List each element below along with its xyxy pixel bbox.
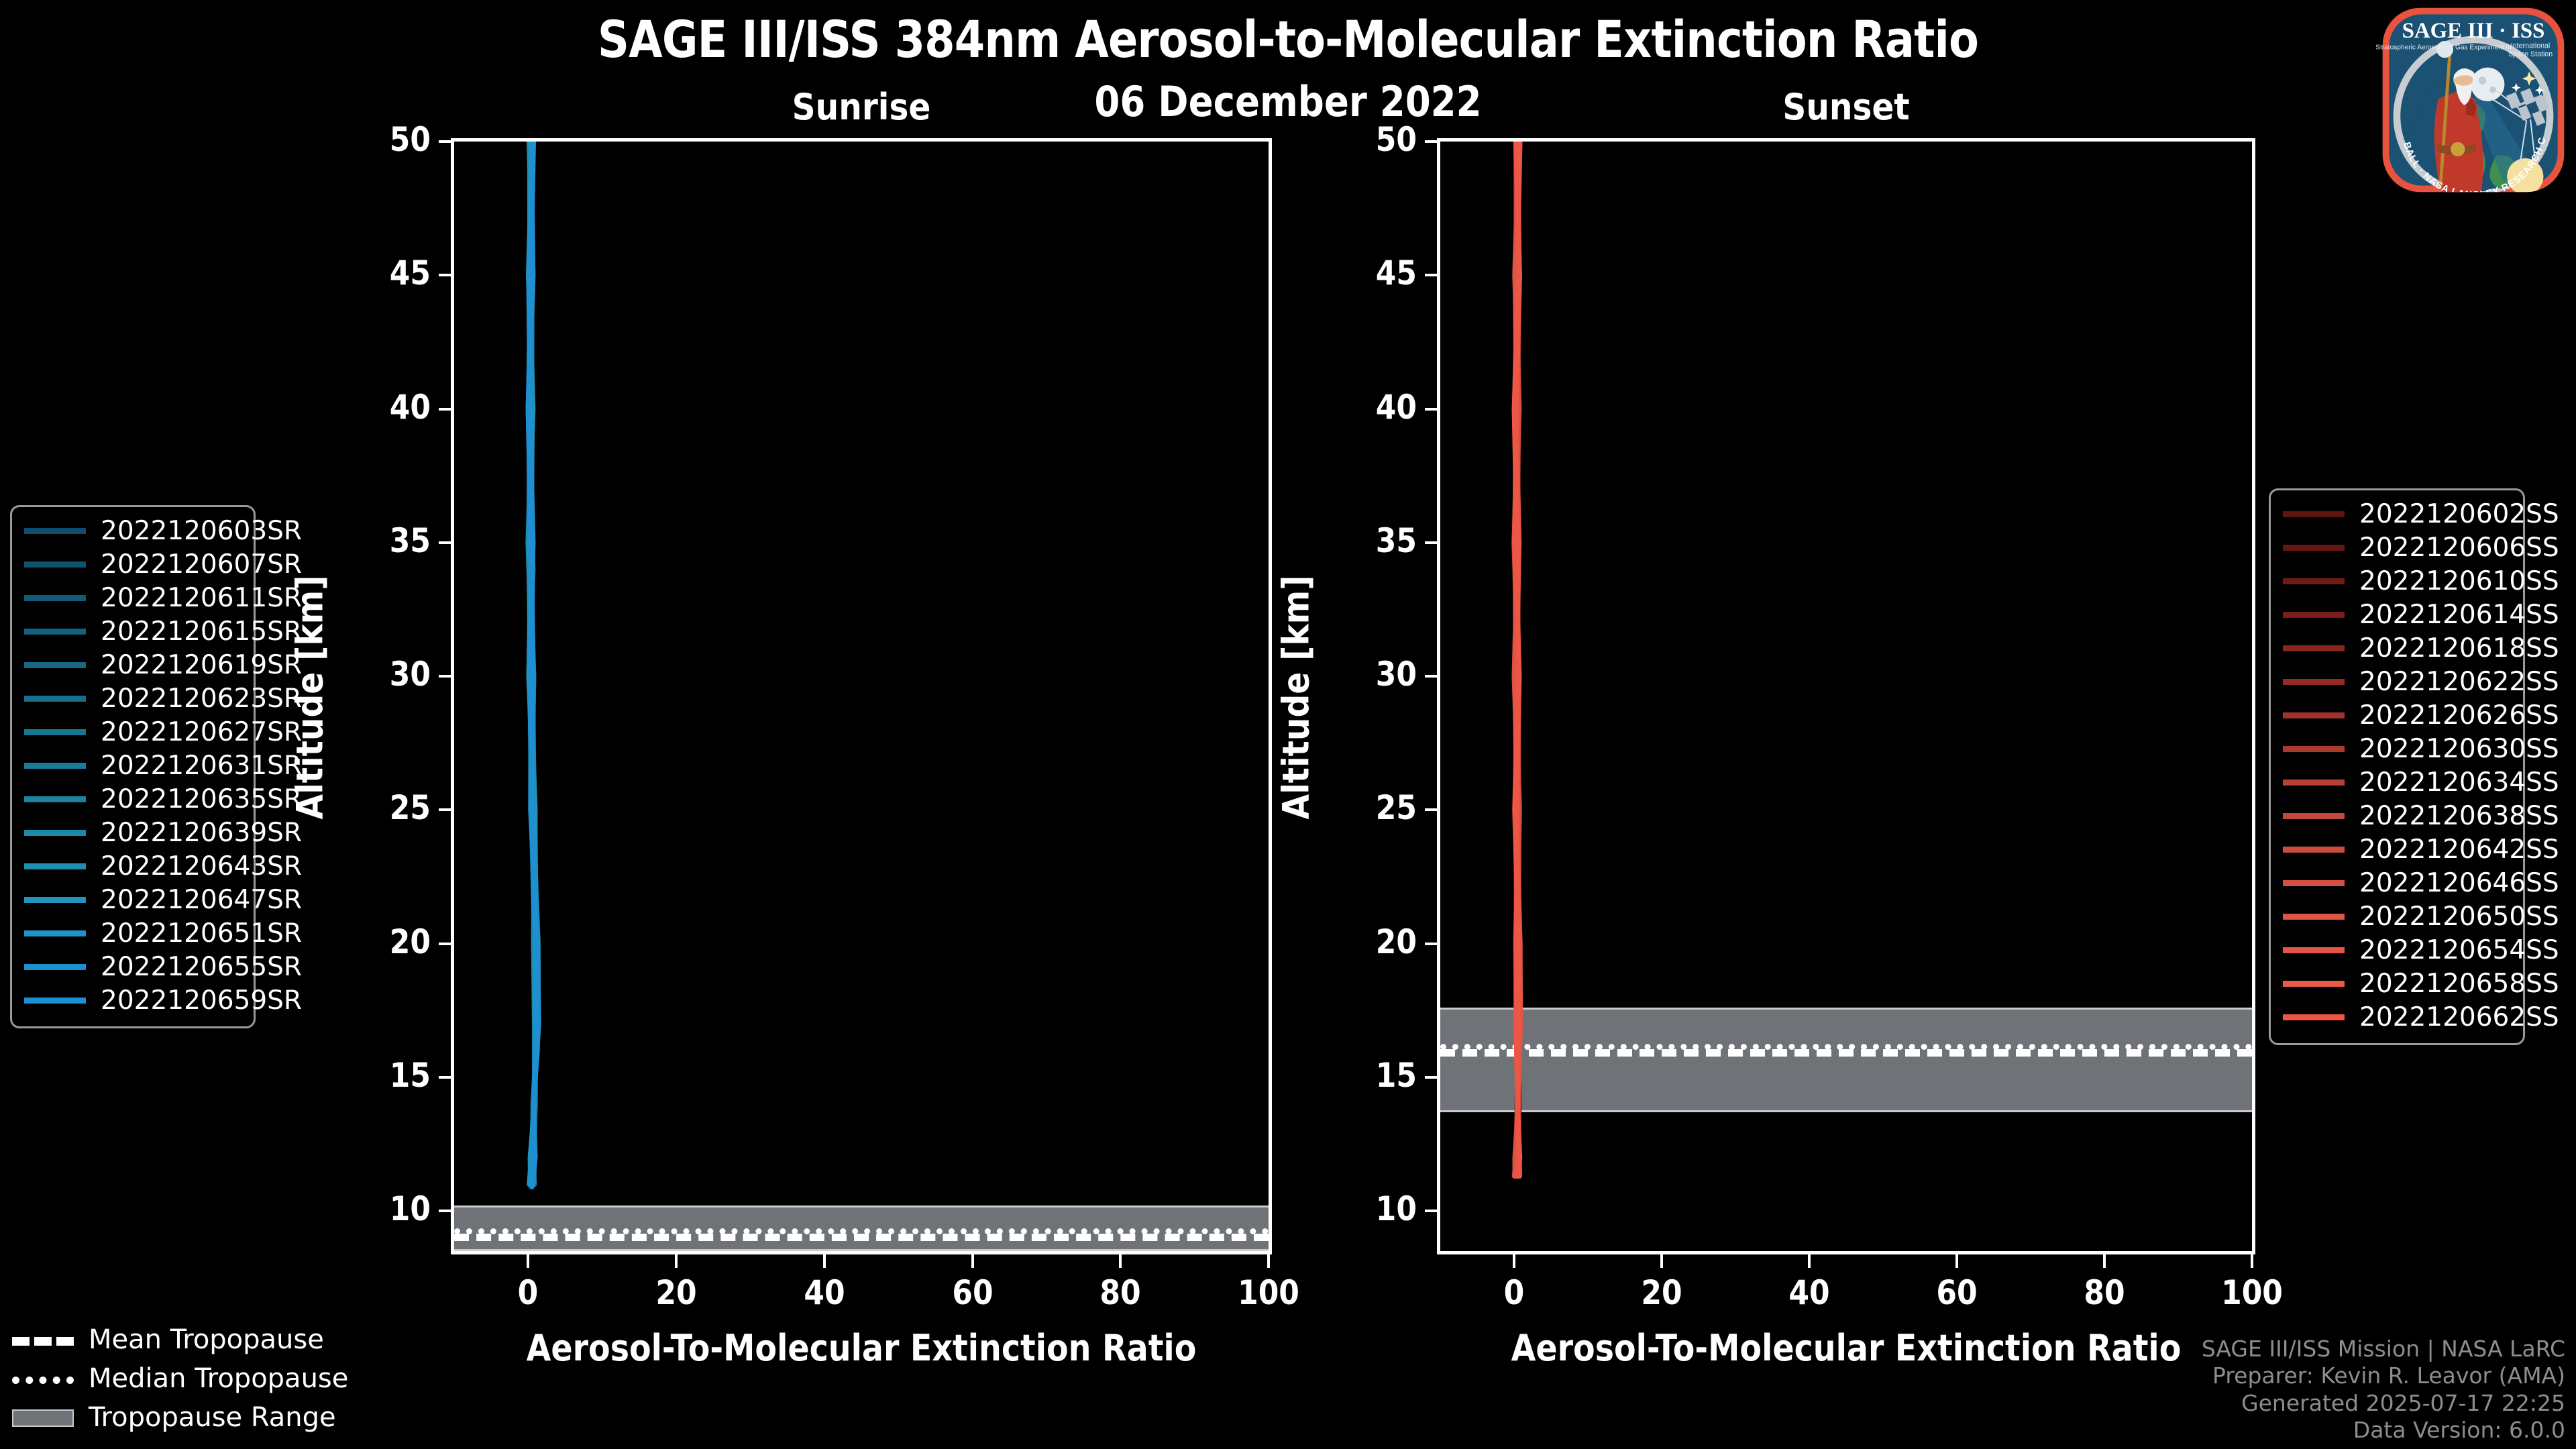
legend-item-label: 2022120639SR: [101, 818, 302, 848]
ytick-mark-left: [439, 943, 451, 945]
legend-color-swatch: [24, 930, 86, 936]
shaded-box-glyph: [12, 1409, 74, 1427]
svg-text:Space Station: Space Station: [2508, 50, 2553, 58]
ytick-mark-right: [1425, 140, 1437, 143]
xtick-mark-left: [675, 1254, 678, 1268]
legend-sunset-item[interactable]: 2022120662SS: [2283, 1000, 2511, 1034]
legend-color-swatch: [24, 998, 86, 1004]
legend-sunrise-item[interactable]: 2022120619SR: [24, 648, 241, 682]
legend-item-label: 2022120611SR: [101, 583, 302, 613]
legend-color-swatch: [2283, 712, 2345, 718]
legend-sunrise-item[interactable]: 2022120659SR: [24, 983, 241, 1017]
ytick-mark-left: [439, 541, 451, 544]
xtick-label-right: 20: [1609, 1273, 1715, 1312]
legend-color-swatch: [2283, 780, 2345, 786]
plot-area-sunrise: [451, 138, 1272, 1254]
dotted-line-glyph: [12, 1377, 74, 1384]
legend-item-label: 2022120651SR: [101, 918, 302, 949]
data-curves-sunset: [1440, 142, 2252, 1251]
legend-color-swatch: [2283, 947, 2345, 953]
xtick-label-right: 40: [1756, 1273, 1862, 1312]
ytick-mark-left: [439, 140, 451, 143]
median-tropopause-key: [12, 1372, 74, 1385]
legend-tropopause: Mean TropopauseMedian TropopauseTropopau…: [12, 1320, 374, 1437]
legend-item-label: 2022120610SS: [2359, 566, 2559, 596]
ytick-mark-right: [1425, 808, 1437, 811]
legend-sunset-item[interactable]: 2022120622SS: [2283, 665, 2511, 698]
ytick-mark-right: [1425, 943, 1437, 945]
legend-sunrise-item[interactable]: 2022120643SR: [24, 849, 241, 883]
tropopause-legend-label: Median Tropopause: [89, 1363, 348, 1394]
plot-area-sunset: [1437, 138, 2255, 1254]
ytick-label-left: 25: [360, 788, 431, 827]
xtick-mark-left: [1267, 1254, 1270, 1268]
legend-color-swatch: [2283, 645, 2345, 651]
panel-title-sunrise: Sunrise: [492, 86, 1231, 128]
data-curves-sunrise: [454, 142, 1269, 1251]
legend-sunrise-item[interactable]: 2022120627SR: [24, 715, 241, 749]
legend-item-label: 2022120642SS: [2359, 835, 2559, 865]
legend-color-swatch: [24, 662, 86, 668]
legend-color-swatch: [2283, 981, 2345, 987]
ytick-label-right: 20: [1346, 922, 1417, 961]
legend-color-swatch: [2283, 880, 2345, 886]
legend-color-swatch: [24, 528, 86, 534]
legend-color-swatch: [2283, 511, 2345, 517]
ytick-label-left: 30: [360, 655, 431, 694]
xtick-mark-left: [971, 1254, 974, 1268]
xtick-label-left: 60: [919, 1273, 1025, 1312]
ytick-mark-right: [1425, 1210, 1437, 1212]
legend-color-swatch: [24, 629, 86, 635]
legend-color-swatch: [24, 830, 86, 836]
credits-line-generated: Generated 2025-07-17 22:25: [2202, 1390, 2565, 1417]
ytick-label-right: 25: [1346, 788, 1417, 827]
legend-item-label: 2022120623SR: [101, 684, 302, 714]
legend-color-swatch: [2283, 578, 2345, 584]
credits-line-mission: SAGE III/ISS Mission | NASA LaRC: [2202, 1336, 2565, 1362]
xtick-mark-left: [1119, 1254, 1122, 1268]
legend-sunset-item[interactable]: 2022120658SS: [2283, 967, 2511, 1000]
xaxis-title-right: Aerosol-To-Molecular Extinction Ratio: [1486, 1327, 2206, 1369]
xaxis-title-left: Aerosol-To-Molecular Extinction Ratio: [500, 1327, 1222, 1369]
ytick-mark-right: [1425, 274, 1437, 276]
legend-sunrise-item[interactable]: 2022120651SR: [24, 916, 241, 950]
legend-sunrise-item[interactable]: 2022120639SR: [24, 816, 241, 849]
legend-color-swatch: [2283, 545, 2345, 551]
ytick-mark-right: [1425, 541, 1437, 544]
legend-item-label: 2022120654SS: [2359, 935, 2559, 965]
legend-color-swatch: [2283, 813, 2345, 819]
ytick-label-right: 30: [1346, 655, 1417, 694]
legend-color-swatch: [24, 729, 86, 735]
legend-sunset-item[interactable]: 2022120654SS: [2283, 933, 2511, 967]
tropopause-range-key: [12, 1411, 74, 1424]
legend-item-label: 2022120635SR: [101, 784, 302, 814]
ytick-mark-right: [1425, 1076, 1437, 1079]
legend-color-swatch: [24, 897, 86, 903]
legend-item-label: 2022120646SS: [2359, 868, 2559, 898]
xtick-mark-right: [2251, 1254, 2253, 1268]
legend-item-label: 2022120619SR: [101, 650, 302, 680]
credits-block: SAGE III/ISS Mission | NASA LaRC Prepare…: [2202, 1336, 2565, 1444]
legend-item-label: 2022120630SS: [2359, 734, 2559, 764]
legend-sunset[interactable]: 2022120602SS2022120606SS2022120610SS2022…: [2269, 488, 2525, 1045]
xtick-mark-right: [2103, 1254, 2106, 1268]
legend-item-label: 2022120658SS: [2359, 969, 2559, 999]
legend-sunset-item[interactable]: 2022120606SS: [2283, 531, 2511, 564]
ytick-mark-left: [439, 274, 451, 276]
legend-color-swatch: [24, 561, 86, 568]
xtick-label-left: 100: [1216, 1273, 1322, 1312]
tropopause-legend-item: Mean Tropopause: [12, 1320, 374, 1359]
xtick-label-left: 20: [623, 1273, 729, 1312]
legend-color-swatch: [2283, 914, 2345, 920]
legend-sunset-item[interactable]: 2022120650SS: [2283, 900, 2511, 933]
ytick-mark-right: [1425, 675, 1437, 678]
svg-text:International: International: [2511, 42, 2550, 50]
legend-sunrise-item[interactable]: 2022120631SR: [24, 749, 241, 782]
credits-line-preparer: Preparer: Kevin R. Leavor (AMA): [2202, 1362, 2565, 1389]
ytick-label-left: 50: [360, 120, 431, 159]
legend-item-label: 2022120650SS: [2359, 902, 2559, 932]
ytick-mark-left: [439, 808, 451, 811]
ytick-label-left: 15: [360, 1056, 431, 1095]
xtick-label-right: 100: [2199, 1273, 2305, 1312]
legend-sunrise-item[interactable]: 2022120635SR: [24, 782, 241, 816]
ytick-label-right: 10: [1346, 1189, 1417, 1228]
legend-sunrise-item[interactable]: 2022120615SR: [24, 614, 241, 648]
legend-color-swatch: [2283, 1014, 2345, 1020]
legend-item-label: 2022120643SR: [101, 851, 302, 881]
figure-canvas: SAGE III/ISS 384nm Aerosol-to-Molecular …: [0, 0, 2576, 1449]
xtick-mark-left: [823, 1254, 826, 1268]
legend-sunset-item[interactable]: 2022120642SS: [2283, 833, 2511, 866]
legend-sunset-item[interactable]: 2022120614SS: [2283, 598, 2511, 631]
legend-item-label: 2022120626SS: [2359, 700, 2559, 731]
dashed-line-glyph: [12, 1337, 74, 1346]
legend-color-swatch: [24, 863, 86, 869]
legend-item-label: 2022120638SS: [2359, 801, 2559, 831]
legend-sunset-item[interactable]: 2022120626SS: [2283, 698, 2511, 732]
legend-item-label: 2022120607SR: [101, 549, 302, 580]
legend-sunrise-item[interactable]: 2022120647SR: [24, 883, 241, 916]
legend-item-label: 2022120602SS: [2359, 499, 2559, 529]
ytick-label-right: 15: [1346, 1056, 1417, 1095]
legend-item-label: 2022120631SR: [101, 751, 302, 781]
ytick-label-right: 45: [1346, 254, 1417, 292]
xtick-mark-right: [1660, 1254, 1663, 1268]
xtick-mark-right: [1808, 1254, 1811, 1268]
legend-sunrise-item[interactable]: 2022120607SR: [24, 547, 241, 581]
mean-tropopause-key: [12, 1333, 74, 1346]
legend-sunrise-item[interactable]: 2022120611SR: [24, 581, 241, 614]
legend-sunset-item[interactable]: 2022120638SS: [2283, 799, 2511, 833]
legend-item-label: 2022120634SS: [2359, 767, 2559, 798]
xtick-mark-right: [1955, 1254, 1958, 1268]
legend-sunrise-item[interactable]: 2022120603SR: [24, 514, 241, 547]
ytick-label-left: 45: [360, 254, 431, 292]
legend-color-swatch: [24, 595, 86, 601]
legend-sunrise[interactable]: 2022120603SR2022120607SR2022120611SR2022…: [10, 505, 256, 1028]
legend-item-label: 2022120655SR: [101, 952, 302, 982]
legend-color-swatch: [24, 796, 86, 802]
xtick-label-left: 0: [475, 1273, 581, 1312]
legend-sunset-item[interactable]: 2022120630SS: [2283, 732, 2511, 765]
ytick-mark-left: [439, 1210, 451, 1212]
xtick-label-right: 60: [1904, 1273, 2010, 1312]
xtick-mark-left: [527, 1254, 529, 1268]
legend-item-label: 2022120618SS: [2359, 633, 2559, 663]
tropopause-legend-label: Tropopause Range: [89, 1402, 336, 1433]
ytick-label-right: 50: [1346, 120, 1417, 159]
legend-color-swatch: [24, 763, 86, 769]
legend-color-swatch: [2283, 847, 2345, 853]
legend-item-label: 2022120606SS: [2359, 533, 2559, 563]
legend-item-label: 2022120627SR: [101, 717, 302, 747]
legend-sunset-item[interactable]: 2022120610SS: [2283, 564, 2511, 598]
ytick-label-left: 35: [360, 521, 431, 560]
legend-color-swatch: [2283, 679, 2345, 685]
ytick-label-left: 40: [360, 388, 431, 427]
legend-item-label: 2022120662SS: [2359, 1002, 2559, 1032]
legend-item-label: 2022120647SR: [101, 885, 302, 915]
ytick-mark-left: [439, 408, 451, 411]
yaxis-title-right: Altitude [km]: [1275, 571, 1318, 824]
legend-color-swatch: [2283, 746, 2345, 752]
ytick-label-left: 20: [360, 922, 431, 961]
ytick-mark-left: [439, 675, 451, 678]
legend-item-label: 2022120603SR: [101, 516, 302, 546]
legend-item-label: 2022120614SS: [2359, 600, 2559, 630]
xtick-label-left: 80: [1067, 1273, 1173, 1312]
legend-color-swatch: [24, 696, 86, 702]
xtick-mark-right: [1513, 1254, 1515, 1268]
tropopause-legend-item: Tropopause Range: [12, 1398, 374, 1437]
legend-sunrise-item[interactable]: 2022120655SR: [24, 950, 241, 983]
ytick-mark-right: [1425, 408, 1437, 411]
legend-color-swatch: [24, 964, 86, 970]
tropopause-legend-label: Mean Tropopause: [89, 1324, 324, 1355]
ytick-mark-left: [439, 1076, 451, 1079]
xtick-label-right: 80: [2051, 1273, 2157, 1312]
xtick-label-right: 0: [1461, 1273, 1567, 1312]
legend-sunset-item[interactable]: 2022120634SS: [2283, 765, 2511, 799]
xtick-label-left: 40: [771, 1273, 877, 1312]
tropopause-legend-item: Median Tropopause: [12, 1359, 374, 1398]
legend-sunset-item[interactable]: 2022120602SS: [2283, 497, 2511, 531]
page-title: SAGE III/ISS 384nm Aerosol-to-Molecular …: [180, 9, 2396, 69]
legend-sunrise-item[interactable]: 2022120623SR: [24, 682, 241, 715]
legend-sunset-item[interactable]: 2022120646SS: [2283, 866, 2511, 900]
legend-sunset-item[interactable]: 2022120618SS: [2283, 631, 2511, 665]
patch-title: SAGE III · ISS: [2402, 19, 2545, 43]
panel-title-sunset: Sunset: [1478, 86, 2214, 128]
legend-item-label: 2022120615SR: [101, 616, 302, 647]
ytick-label-right: 35: [1346, 521, 1417, 560]
legend-color-swatch: [2283, 612, 2345, 618]
legend-item-label: 2022120659SR: [101, 985, 302, 1016]
legend-item-label: 2022120622SS: [2359, 667, 2559, 697]
ytick-label-right: 40: [1346, 388, 1417, 427]
patch-subtitle-left: Stratospheric Aerosol and Gas Experiment…: [2376, 44, 2512, 52]
ytick-label-left: 10: [360, 1189, 431, 1228]
credits-line-version: Data Version: 6.0.0: [2202, 1417, 2565, 1444]
sage-iii-iss-mission-patch-logo: BALL · NASA LANGLEY RESEARCH CENTER · TA…: [2376, 3, 2571, 197]
